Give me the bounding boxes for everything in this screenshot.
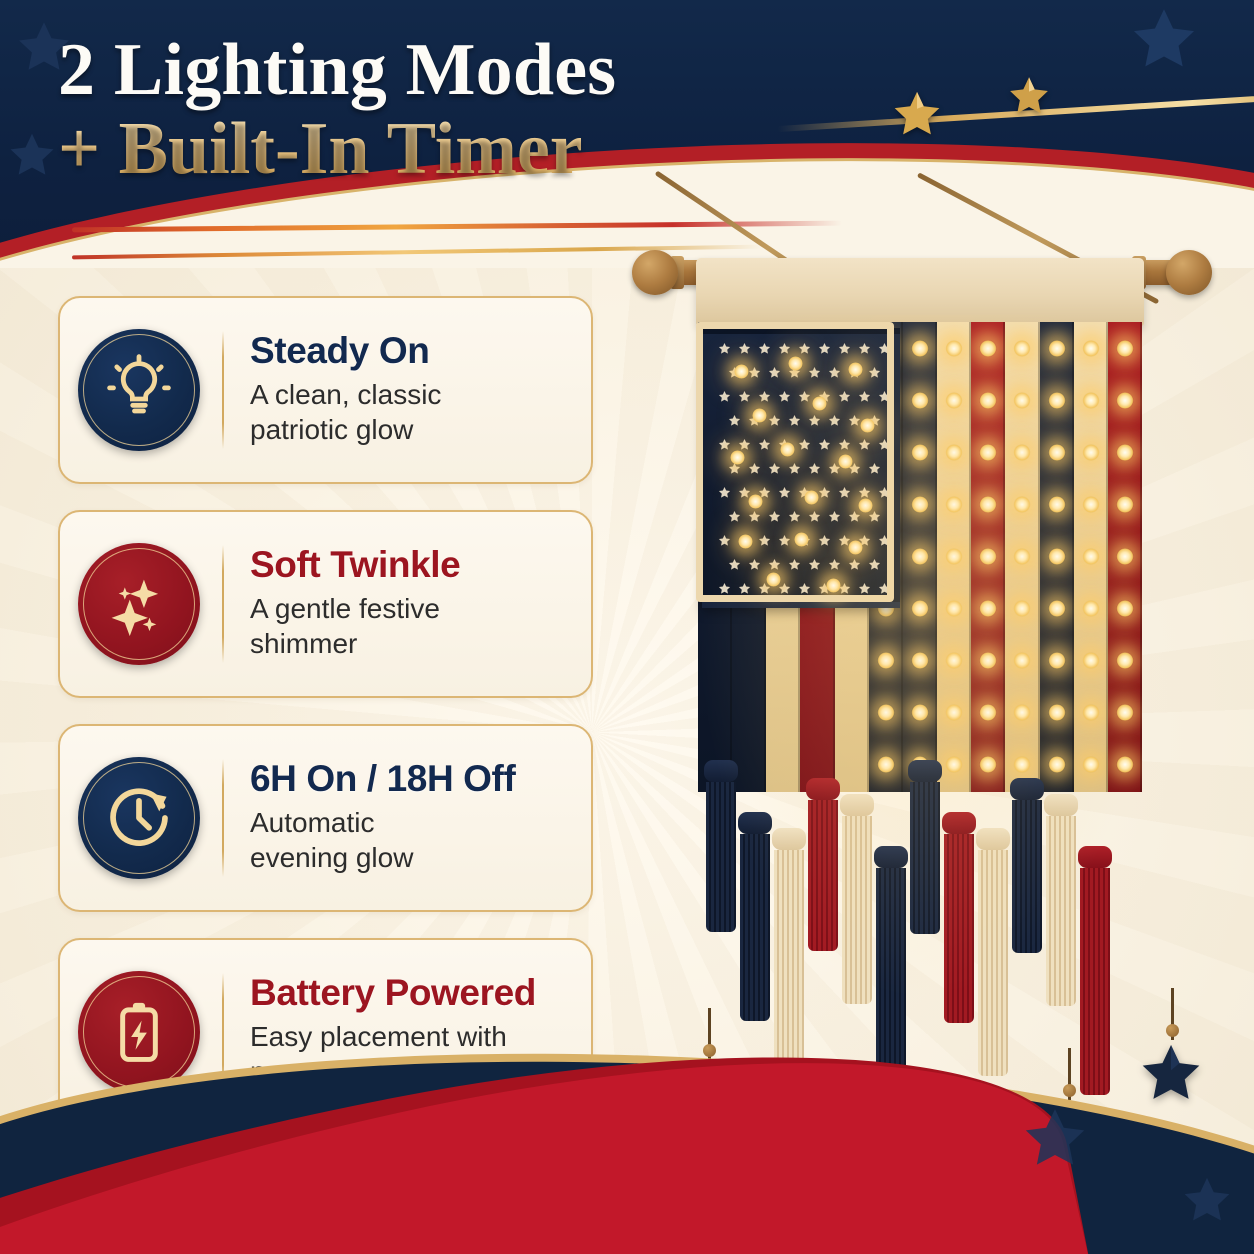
led-bulb — [1116, 756, 1133, 773]
led-bulb — [946, 652, 963, 669]
led-bulb — [1048, 340, 1065, 357]
led-bulb — [946, 340, 963, 357]
sparkle-icon-badge — [78, 543, 200, 665]
led-bulb — [1116, 340, 1133, 357]
led-bulb — [1082, 756, 1099, 773]
wooden-ball-finial — [1166, 250, 1212, 295]
yarn-tassel — [840, 794, 874, 1004]
led-bulb — [1116, 548, 1133, 565]
led-bulb — [1082, 600, 1099, 617]
clock-timer-icon-badge — [78, 757, 200, 879]
card-divider — [222, 759, 224, 877]
led-bulb — [912, 548, 929, 565]
led-bulb — [1014, 548, 1031, 565]
led-bulb — [1014, 392, 1031, 409]
feature-card-soft-twinkle[interactable]: Soft Twinkle A gentle festive shimmer — [58, 510, 593, 698]
led-bulb — [946, 444, 963, 461]
feature-description: A gentle festive shimmer — [250, 592, 573, 661]
led-bulb — [1082, 392, 1099, 409]
faint-star-icon — [6, 130, 58, 180]
feature-title: Soft Twinkle — [250, 546, 573, 585]
led-bulb — [946, 496, 963, 513]
led-bulb — [946, 704, 963, 721]
led-bulb — [1048, 600, 1065, 617]
led-bulb — [877, 704, 894, 721]
led-bulb — [1014, 340, 1031, 357]
yarn-tassel — [738, 812, 772, 1021]
led-bulb — [1048, 392, 1065, 409]
led-bulb — [946, 756, 963, 773]
led-bulb — [1082, 548, 1099, 565]
faint-star-icon — [1020, 1104, 1090, 1177]
yarn-tassel — [704, 760, 738, 932]
led-bulb — [1116, 704, 1133, 721]
led-bulb — [980, 756, 997, 773]
led-bulb — [912, 392, 929, 409]
led-bulb — [1014, 444, 1031, 461]
led-bulb — [1116, 444, 1133, 461]
led-bulb — [912, 600, 929, 617]
feature-title: 6H On / 18H Off — [250, 760, 573, 799]
yarn-tassel — [1010, 778, 1044, 953]
faint-star-icon — [1180, 1174, 1234, 1231]
infographic-canvas: 2 Lighting Modes + Built-In Timer Steady… — [0, 0, 1254, 1254]
canvas-rod-sleeve — [696, 258, 1144, 326]
led-bulb — [1014, 652, 1031, 669]
led-bulb — [1116, 652, 1133, 669]
card-divider — [222, 545, 224, 663]
led-bulb — [1048, 704, 1065, 721]
flag-stripe — [1108, 322, 1142, 792]
led-bulb — [1014, 756, 1031, 773]
led-bulb — [1116, 496, 1133, 513]
led-bulb — [946, 600, 963, 617]
wooden-ball-finial — [632, 250, 678, 295]
led-bulb — [1048, 548, 1065, 565]
led-bulb — [877, 652, 894, 669]
led-bulb — [912, 340, 929, 357]
led-bulb — [1014, 496, 1031, 513]
led-bulb — [980, 392, 997, 409]
flag-stripe — [903, 322, 937, 792]
gold-star-icon — [890, 88, 944, 145]
yarn-tassel — [1044, 794, 1078, 1006]
led-bulb — [1048, 496, 1065, 513]
led-bulb — [980, 496, 997, 513]
led-bulb — [1082, 652, 1099, 669]
feature-title: Battery Powered — [250, 974, 573, 1013]
yarn-tassel — [806, 778, 840, 951]
flag-stripe — [971, 322, 1005, 792]
led-bulb — [1082, 496, 1099, 513]
led-bulb — [1048, 652, 1065, 669]
yarn-tassel — [942, 812, 976, 1023]
sparkle-icon — [102, 567, 176, 641]
feature-description: A clean, classic patriotic glow — [250, 378, 573, 447]
led-bulb — [1116, 392, 1133, 409]
gold-star-icon — [1006, 74, 1052, 123]
led-bulb — [912, 704, 929, 721]
battery-bolt-icon — [104, 997, 174, 1067]
feature-card-timer[interactable]: 6H On / 18H Off Automatic evening glow — [58, 724, 593, 912]
clock-timer-icon — [101, 780, 177, 856]
footer-banner — [0, 1024, 1254, 1254]
led-bulb — [980, 548, 997, 565]
led-bulb — [1048, 444, 1065, 461]
led-bulb — [912, 652, 929, 669]
flag-stripe — [1005, 322, 1039, 792]
led-bulb — [946, 548, 963, 565]
led-bulb — [946, 392, 963, 409]
rickrack-trim — [696, 322, 894, 602]
led-bulb — [1014, 600, 1031, 617]
led-bulb — [912, 496, 929, 513]
yarn-tassel — [908, 760, 942, 934]
led-bulb — [1116, 600, 1133, 617]
lightbulb-icon-badge — [78, 329, 200, 451]
led-bulb — [980, 704, 997, 721]
feature-card-steady-on[interactable]: Steady On A clean, classic patriotic glo… — [58, 296, 593, 484]
led-bulb — [980, 600, 997, 617]
led-bulb — [980, 340, 997, 357]
led-bulb — [1082, 704, 1099, 721]
led-bulb — [1014, 704, 1031, 721]
led-bulb — [1082, 444, 1099, 461]
led-bulb — [980, 444, 997, 461]
led-bulb — [1082, 340, 1099, 357]
flag-stripe — [1074, 322, 1108, 792]
flag-stripe — [937, 322, 971, 792]
led-bulb — [980, 652, 997, 669]
feature-title: Steady On — [250, 332, 573, 371]
led-bulb — [1048, 756, 1065, 773]
led-bulb — [912, 444, 929, 461]
lightbulb-icon — [103, 354, 175, 426]
card-divider — [222, 331, 224, 449]
flag-stripe — [1040, 322, 1074, 792]
feature-description: Automatic evening glow — [250, 806, 573, 875]
led-bulb — [877, 756, 894, 773]
